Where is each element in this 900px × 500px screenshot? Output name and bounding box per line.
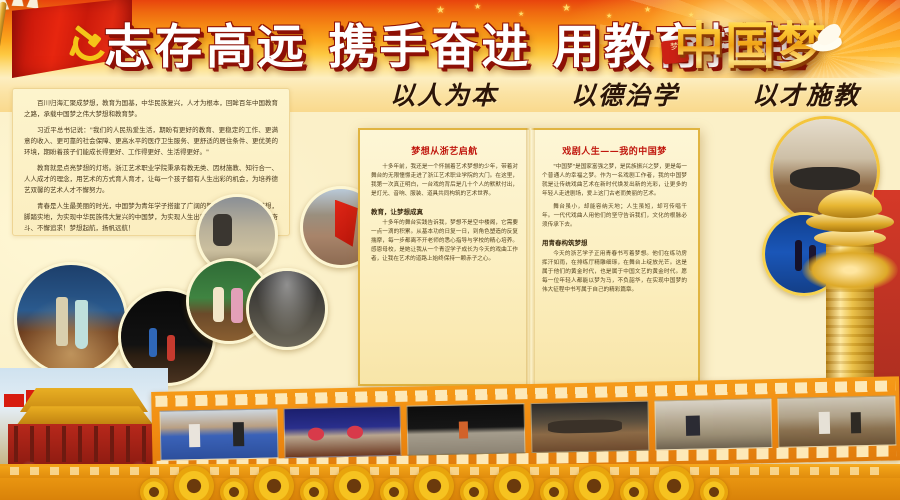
stage-hosts-photo (14, 262, 128, 376)
china-dream-title: 中国梦 (674, 6, 827, 78)
sunflower-icon (174, 466, 214, 500)
sunflower-icon (620, 478, 648, 500)
slogan-1: 以人为本 (390, 76, 498, 112)
slogan-2: 以德治学 (571, 76, 679, 112)
green-room-meeting-photo (530, 401, 649, 453)
center-brochure: 梦想从浙艺启航 十多年前，我还是一个怀揣着艺术梦想的少年，带着对舞台的无限憧憬走… (358, 128, 700, 386)
sunflower-icon (574, 466, 614, 500)
article-title-left: 梦想从浙艺启航 (371, 144, 518, 157)
article-paragraph: "中国梦"是国家富强之梦，是民族振兴之梦，更是每一个普通人的幸福之梦。作为一名戏… (542, 163, 687, 199)
black-box-theatre-photo (407, 403, 526, 455)
sunflower-icon (540, 478, 568, 500)
rehearsal-hall-photo (160, 408, 279, 460)
sunflower-row (140, 466, 900, 500)
intro-paragraph: 百川归海汇聚成梦想，教育为国基，中华民族复兴，人才为根本，回眸百年中国教育之路，… (24, 98, 278, 120)
brochure-right-page: 戏剧人生——我的中国梦 "中国梦"是国家富强之梦，是民族振兴之梦，更是每一个普通… (530, 128, 700, 386)
intro-paragraph: 教育就是点亮梦想的灯塔。浙江艺术职业学院秉承有教无类、因材施教、知行合一、人人成… (24, 163, 278, 196)
sunflower-icon (254, 466, 294, 500)
drama-rehearsal-photo (778, 395, 897, 447)
sunflower-icon (460, 478, 488, 500)
hammer-sickle-icon (70, 24, 104, 56)
sunflower-icon (380, 478, 408, 500)
subtitle-slogans: 以人为本 以德治学 以才施教 (390, 78, 860, 110)
brochure-left-page: 梦想从浙艺启航 十多年前，我还是一个怀揣着艺术梦想的少年，带着对舞台的无限憧憬走… (358, 128, 530, 386)
sunflower-icon (140, 478, 168, 500)
dance-floor-class-photo (654, 398, 773, 450)
sunflower-icon (334, 466, 374, 500)
poster-header: ★ ★ ★ ★ ★ ★ ★ 志存高远 携手奋进 用教育托起 梦 中国梦 (0, 0, 900, 78)
brochure-fold-crease (526, 128, 535, 386)
sunflower-icon (700, 478, 728, 500)
article-paragraph: 十多年前，我还是一个怀揣着艺术梦想的少年，带着对舞台的无限憧憬走进了浙江艺术职业… (371, 163, 518, 199)
sunflower-icon (414, 466, 454, 500)
article-paragraph: 十多年的舞台实践告诉我，梦想不是空中楼阁，它需要一点一滴的积累。从基本功的日复一… (371, 219, 518, 264)
sunflower-icon (220, 478, 248, 500)
intro-paragraph: 习近平总书记说："我们的人民热爱生活，期盼有更好的教育、更稳定的工作、更满意的收… (24, 125, 278, 158)
article-subheading-left: 教育，让梦想成真 (371, 206, 518, 216)
stage-red-dance-photo (283, 406, 402, 458)
film-strip-gallery (151, 376, 900, 476)
poster-canvas: ★ ★ ★ ★ ★ ★ ★ 志存高远 携手奋进 用教育托起 梦 中国梦 以人 (0, 0, 900, 500)
sunflower-icon (494, 466, 534, 500)
sunflower-icon (300, 478, 328, 500)
article-paragraph: 舞台虽小，却能容纳天地；人生虽短，却可传唱千年。一代代戏曲人用他们的坚守告诉我们… (542, 203, 687, 230)
dove-icon (806, 28, 850, 58)
article-subheading-right: 用青春构筑梦想 (542, 237, 687, 247)
article-title-right: 戏剧人生——我的中国梦 (542, 144, 687, 157)
slogan-3: 以才施教 (752, 76, 860, 112)
article-paragraph: 今天的浙艺学子正用青春书写着梦想。他们在练功房挥汗如雨，在排练厅精雕细琢，在舞台… (542, 250, 687, 295)
sunflower-icon (654, 466, 694, 500)
troupe-group-photo (246, 268, 328, 350)
